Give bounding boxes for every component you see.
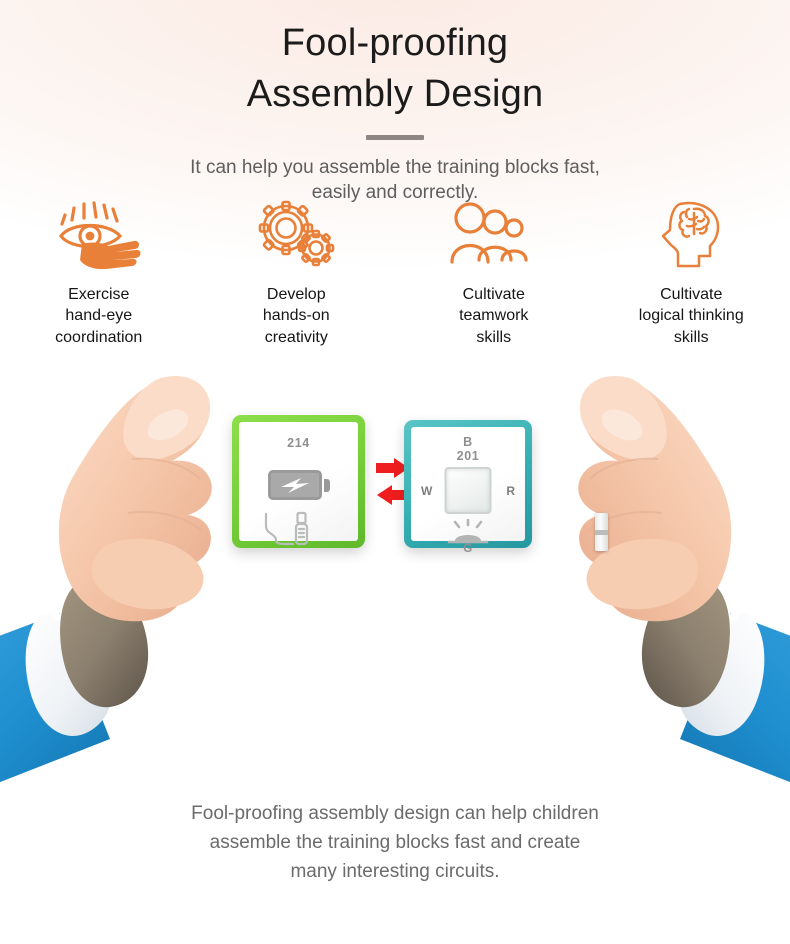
feature-label-line-2: hand-eye	[0, 305, 198, 326]
terminal-label-w: W	[421, 484, 432, 498]
feature-label-line-3: skills	[593, 327, 790, 348]
terminal-label-g: G	[411, 543, 525, 555]
title-divider	[366, 135, 424, 140]
page-title: Fool-proofing Assembly Design	[0, 0, 790, 121]
feature-label-line-2: logical thinking	[593, 305, 790, 326]
eye-hand-icon	[0, 200, 198, 272]
feature-label-line-3: skills	[395, 327, 593, 348]
feature-label: Cultivate teamwork skills	[395, 284, 593, 348]
circuit-block-teal[interactable]: B 201 W R G	[404, 420, 532, 548]
promo-page: Fool-proofing Assembly Design It can hel…	[0, 0, 790, 944]
led-square	[445, 467, 492, 514]
feature-label-line-3: creativity	[198, 327, 396, 348]
feature-item-cultivate-logical-thinking-skills: Cultivate logical thinking skills	[593, 200, 790, 348]
feature-label: Exercise hand-eye coordination	[0, 284, 198, 348]
feature-label: Cultivate logical thinking skills	[593, 284, 790, 348]
title-line-1: Fool-proofing	[282, 22, 509, 64]
subtitle-line-1: It can help you assemble the training bl…	[190, 157, 600, 178]
page-header: Fool-proofing Assembly Design It can hel…	[0, 0, 790, 206]
block-code-teal: 201	[411, 449, 525, 463]
feature-label-line-2: hands-on	[198, 305, 396, 326]
block-face-green: 214	[239, 422, 358, 541]
page-subtitle: It can help you assemble the training bl…	[0, 155, 790, 206]
feature-label-line-2: teamwork	[395, 305, 593, 326]
feature-list: Exercise hand-eye coordination	[0, 200, 790, 348]
battery-charge-icon	[268, 470, 330, 500]
terminal-label-r: R	[506, 484, 515, 498]
feature-item-develop-hands-on-creativity: Develop hands-on creativity	[198, 200, 396, 348]
footer-line-3: many interesting circuits.	[0, 858, 790, 887]
feature-label-line-1: Cultivate	[593, 284, 790, 305]
brain-head-icon	[593, 200, 790, 272]
product-illustration: 214	[0, 365, 790, 835]
feature-label: Develop hands-on creativity	[198, 284, 396, 348]
lamp-light-icon	[445, 519, 491, 545]
footer-caption: Fool-proofing assembly design can help c…	[0, 800, 790, 887]
feature-item-cultivate-teamwork-skills: Cultivate teamwork skills	[395, 200, 593, 348]
footer-line-2: assemble the training blocks fast and cr…	[0, 829, 790, 858]
feature-label-line-3: coordination	[0, 327, 198, 348]
footer-line-1: Fool-proofing assembly design can help c…	[0, 800, 790, 829]
block-letter-b: B	[411, 435, 525, 449]
feature-label-line-1: Develop	[198, 284, 396, 305]
feature-item-exercise-hand-eye-coordination: Exercise hand-eye coordination	[0, 200, 198, 348]
title-line-2: Assembly Design	[0, 69, 790, 120]
feature-label-line-1: Exercise	[0, 284, 198, 305]
circuit-block-green[interactable]: 214	[232, 415, 365, 548]
people-group-icon	[395, 200, 593, 272]
block-face-teal: B 201 W R G	[411, 427, 525, 541]
gears-icon	[198, 200, 396, 272]
connector-tab	[595, 513, 608, 551]
block-code-green: 214	[239, 436, 358, 450]
usb-cable-icon	[263, 510, 325, 546]
feature-label-line-1: Cultivate	[395, 284, 593, 305]
